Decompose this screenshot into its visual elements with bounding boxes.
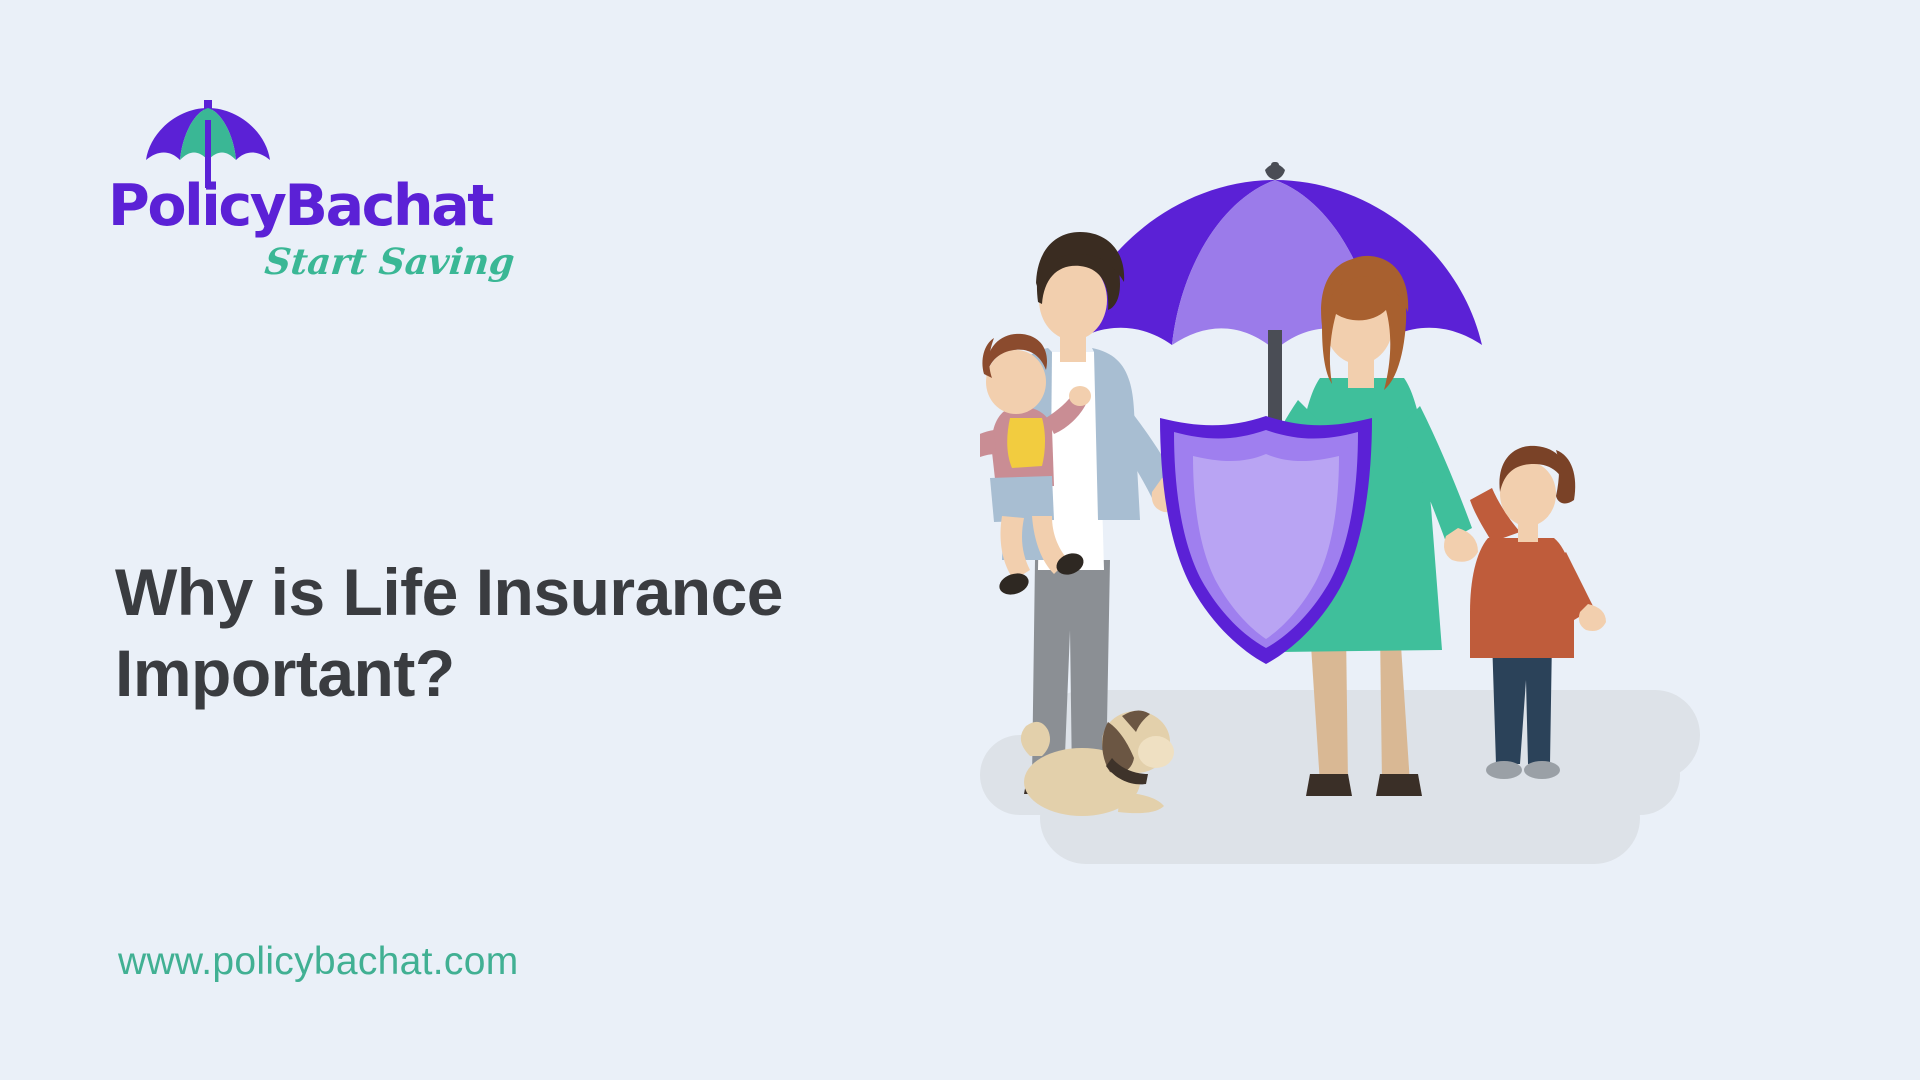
page-title: Why is Life Insurance Important? — [115, 552, 875, 713]
website-url[interactable]: www.policybachat.com — [118, 940, 519, 984]
hero-illustration — [980, 160, 1800, 880]
brand-wordmark: PolicyBachat — [108, 178, 492, 235]
brand-tagline: Start Saving — [263, 244, 516, 280]
brand-logo[interactable]: PolicyBachat Start Saving — [108, 100, 528, 325]
poster-canvas: PolicyBachat Start Saving Why is Life In… — [0, 0, 1920, 1080]
